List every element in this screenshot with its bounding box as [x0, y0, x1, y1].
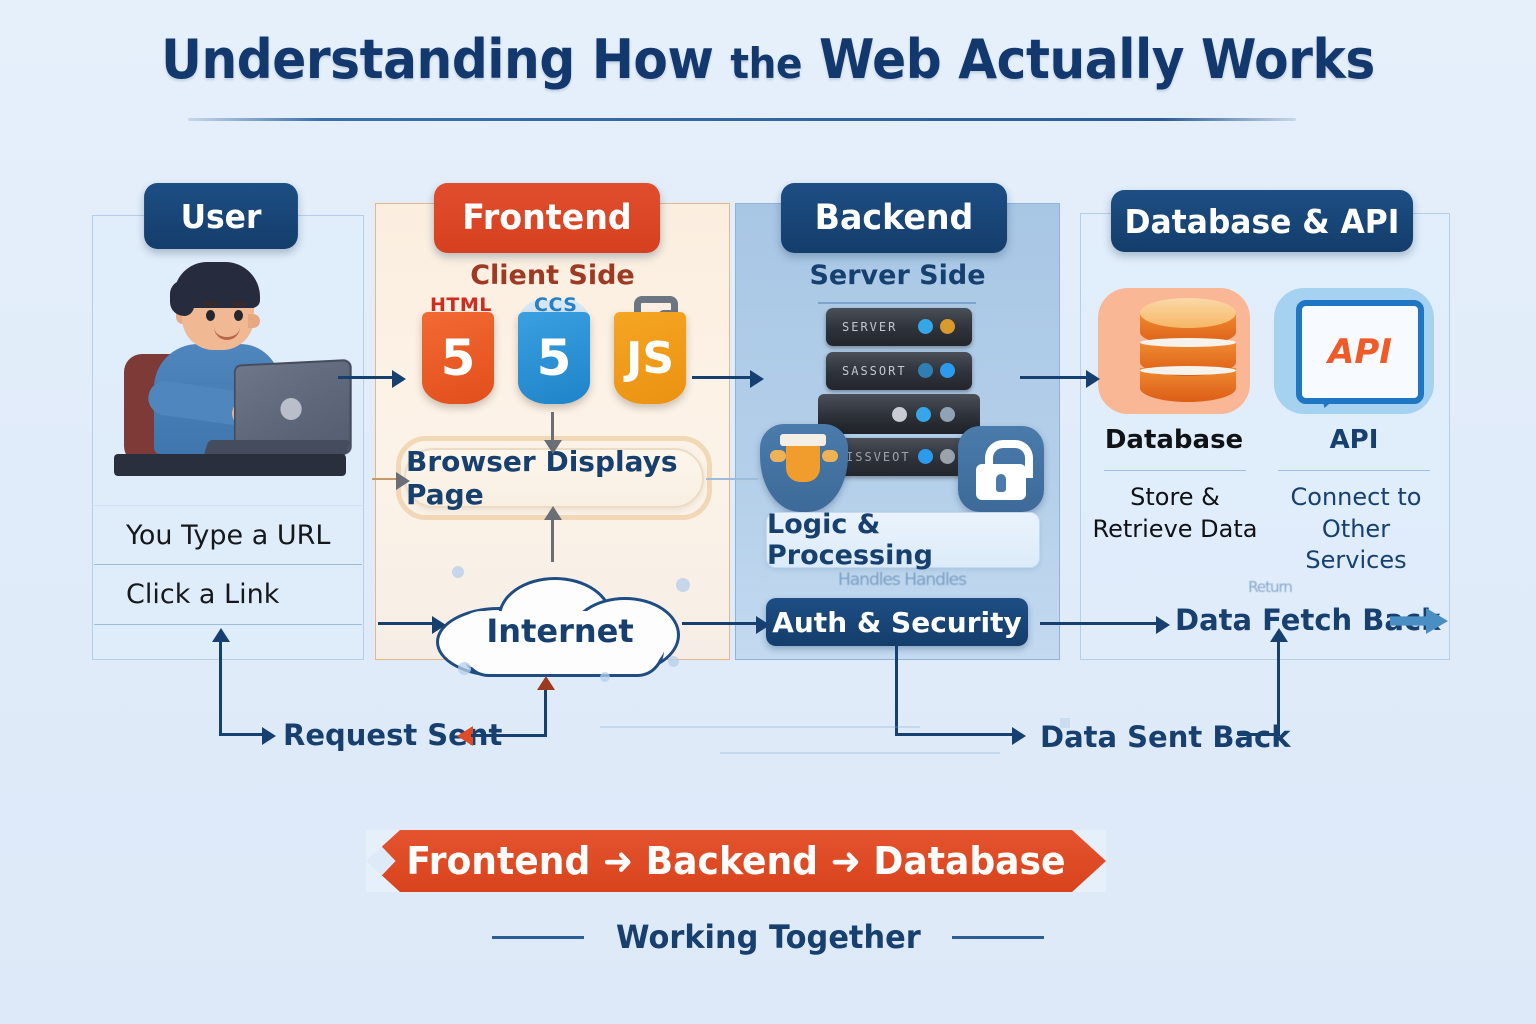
list-item: Click a Link [94, 565, 362, 625]
shield-figure-head [780, 434, 826, 446]
led-blue-icon [918, 319, 933, 334]
person-brow-right [231, 302, 246, 306]
database-blur-caption: Return [1190, 578, 1350, 596]
connector-backend-to-browser [706, 478, 758, 480]
frontend-tech-logos: HTML CCS 5 5 JS [418, 296, 688, 406]
arrow-right-backend-database-icon [1086, 370, 1100, 388]
connector-request-left [219, 733, 265, 736]
person-hair-side [170, 280, 194, 316]
shield-figure-arm [770, 450, 786, 462]
decorative-dot [668, 656, 679, 667]
arrow-right-internet-icon [432, 616, 446, 634]
connector-user-to-internet [378, 622, 436, 625]
cylinder-divider [1140, 338, 1236, 347]
led-blue-icon [940, 363, 955, 378]
logic-processing-box: Logic & Processing [766, 512, 1040, 568]
led-grey-icon [940, 407, 955, 422]
led-amber-icon [940, 319, 955, 334]
badge-database-api: Database & API [1111, 190, 1413, 252]
internet-cloud: Internet [436, 575, 684, 673]
api-label: API [1274, 425, 1434, 455]
led-grey-icon [892, 407, 907, 422]
backend-blur-caption: Handles Handles [766, 570, 1038, 590]
desk-shape [114, 454, 346, 476]
decorative-dot [452, 566, 464, 578]
arrow-up-fetch-icon [1270, 628, 1288, 642]
decorative-line [600, 726, 920, 728]
summary-ribbon-label: Frontend ➜ Backend ➜ Database [406, 839, 1065, 883]
arrow-right-fetch-icon [1156, 616, 1170, 634]
decorative-dot [458, 662, 471, 675]
frontend-subtitle: Client Side [375, 260, 730, 291]
person-eye-right [234, 310, 243, 321]
arrow-up-internet-icon [537, 676, 555, 690]
auth-security-bar: Auth & Security [766, 598, 1028, 646]
connector-frontend-to-backend [692, 376, 752, 379]
decorative-dot [676, 578, 690, 592]
footer-rule-left [492, 936, 584, 939]
connector-data-sent-right [1238, 733, 1280, 736]
server-unit-blank [818, 394, 980, 434]
page-title-small: the [730, 39, 802, 88]
cylinder-divider [1140, 366, 1236, 375]
arrow-right-user-frontend-icon [392, 370, 406, 388]
summary-ribbon: Frontend ➜ Backend ➜ Database [366, 830, 1106, 892]
data-sent-back-label: Data Sent Back [1040, 720, 1290, 754]
padlock-icon [958, 426, 1044, 512]
user-illustration [110, 258, 350, 488]
server-unit-label: SASSORT [842, 364, 907, 378]
footer: Working Together [0, 918, 1536, 956]
backend-subtitle-divider [818, 302, 976, 304]
decorative-mark [1060, 718, 1070, 728]
badge-frontend: Frontend [434, 183, 660, 253]
arrow-up-user-icon [212, 628, 230, 642]
api-bubble-text: API [1328, 332, 1392, 372]
person-nose [248, 314, 260, 328]
title-divider [188, 118, 1296, 121]
api-description: Connect to Other Services [1268, 482, 1444, 577]
list-item: You Type a URL [94, 505, 362, 565]
shield-figure [786, 442, 820, 482]
connector-auth-to-fetch [1040, 622, 1160, 625]
badge-backend: Backend [781, 183, 1007, 253]
user-action-list: You Type a URL Click a Link [94, 505, 362, 625]
shield-figure-arm [822, 450, 838, 462]
css3-icon: 5 [518, 312, 590, 404]
server-unit: SERVER [826, 308, 972, 346]
database-label: Database [1098, 425, 1250, 455]
connector-auth-down [895, 646, 898, 734]
page-title-part1: Understanding How [161, 28, 713, 91]
padlock-keyhole [996, 474, 1006, 492]
page-title-part2: Web Actually Works [819, 28, 1375, 91]
connector-backend-to-database [1020, 376, 1088, 379]
connector-fetch-up [1277, 640, 1280, 734]
connector-user-to-frontend [338, 376, 394, 379]
server-unit: SASSORT [826, 352, 972, 390]
footer-label: Working Together [616, 918, 921, 956]
decorative-line [720, 752, 1000, 754]
cylinder-top [1140, 298, 1236, 328]
database-cylinder-icon [1140, 298, 1236, 402]
server-unit: ISSVEOT [830, 438, 968, 476]
page-title: Understanding How the Web Actually Works [54, 28, 1482, 91]
led-blue-icon [918, 449, 933, 464]
arrow-right-frontend-backend-icon [750, 370, 764, 388]
api-speech-bubble-icon: API [1296, 300, 1424, 404]
connector-user-down [219, 640, 222, 736]
infographic-canvas: Understanding How the Web Actually Works… [0, 0, 1536, 1024]
browser-pill-label: Browser Displays Page [404, 448, 704, 508]
person-eye-left [206, 310, 215, 321]
led-blue-icon [918, 363, 933, 378]
laptop-logo-icon [280, 398, 301, 420]
server-unit-label: SERVER [842, 320, 897, 334]
database-label-divider [1104, 470, 1246, 471]
footer-rule-right [952, 936, 1044, 939]
database-description: Store & Retrieve Data [1090, 482, 1260, 545]
internet-label: Internet [436, 575, 684, 673]
html5-icon: 5 [422, 312, 494, 404]
api-label-divider [1278, 470, 1430, 471]
arrow-right-request-icon [262, 727, 276, 745]
arrow-down-to-browser-icon [544, 440, 562, 454]
browser-displays-page-node: Browser Displays Page [404, 448, 704, 508]
led-blue-icon [916, 407, 931, 422]
backend-subtitle: Server Side [735, 260, 1060, 291]
arrow-right-auth-icon [756, 616, 770, 634]
connector-internet-to-auth [682, 622, 760, 625]
connector-internet-down [544, 690, 547, 736]
arrow-up-to-browser-icon [544, 506, 562, 520]
javascript-icon: JS [614, 312, 686, 404]
connector-logos-to-browser [551, 412, 554, 442]
connector-request-from-internet [471, 734, 547, 737]
led-grey-icon [940, 449, 955, 464]
decorative-dot [600, 672, 610, 682]
person-brow-left [203, 302, 218, 306]
arrow-right-browser-icon [396, 472, 410, 490]
server-unit-label: ISSVEOT [846, 450, 911, 464]
connector-data-sent-left [895, 733, 1015, 736]
badge-user: User [144, 183, 298, 249]
arrow-right-data-sent-icon [1012, 727, 1026, 745]
